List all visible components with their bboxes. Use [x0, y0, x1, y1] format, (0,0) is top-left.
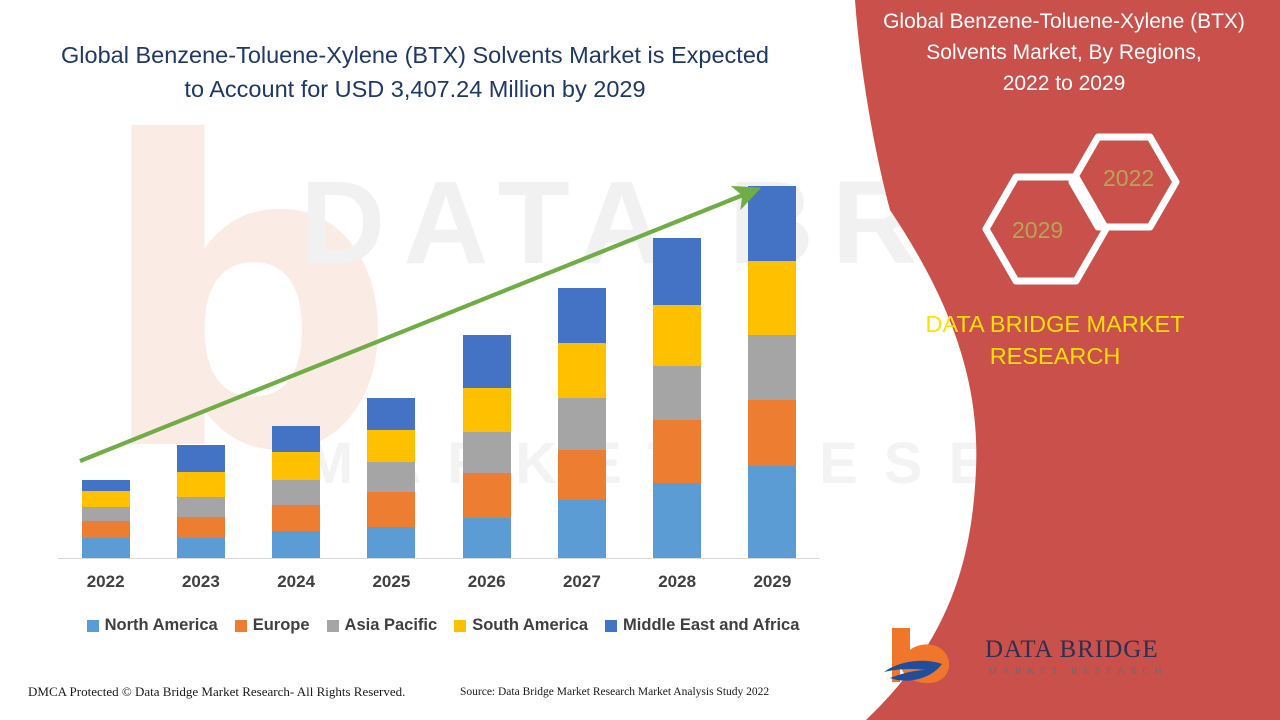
segment-south-america	[653, 305, 701, 366]
segment-middle-east-and-africa	[82, 480, 130, 491]
segment-asia-pacific	[272, 480, 320, 505]
panel-title-line-3: 2022 to 2029	[858, 68, 1270, 99]
brand-name-line-1: DATA BRIDGE MARKET	[850, 308, 1260, 340]
logo-wordmark: DATA BRIDGE	[985, 636, 1159, 664]
brand-name: DATA BRIDGE MARKET RESEARCH	[850, 308, 1260, 372]
segment-north-america	[272, 531, 320, 558]
bar-2026	[463, 335, 511, 558]
bar-2023	[177, 445, 225, 558]
x-axis-label-2022: 2022	[71, 572, 141, 592]
chart-legend: North AmericaEuropeAsia PacificSouth Ame…	[58, 616, 828, 635]
x-axis-label-2027: 2027	[547, 572, 617, 592]
company-logo: DATA BRIDGE MARKET RESEARCH	[880, 620, 1140, 700]
infographic-root: b DATA BRIDGE MARKET RESEARCH Global Ben…	[0, 0, 1280, 720]
legend-label: Europe	[253, 616, 310, 635]
segment-middle-east-and-africa	[748, 186, 796, 261]
legend-swatch-icon	[454, 620, 466, 632]
x-axis-label-2029: 2029	[737, 572, 807, 592]
segment-asia-pacific	[653, 366, 701, 420]
x-axis-labels: 20222023202420252026202720282029	[58, 572, 820, 602]
segment-south-america	[748, 261, 796, 335]
chart-plot-area: 20222023202420252026202720282029	[0, 0, 880, 720]
x-axis-label-2025: 2025	[356, 572, 426, 592]
legend-item-south-america[interactable]: South America	[454, 616, 588, 635]
segment-south-america	[463, 388, 511, 432]
legend-label: North America	[105, 616, 218, 635]
segment-north-america	[82, 538, 130, 558]
segment-europe	[367, 492, 415, 527]
data-bridge-logo-icon	[880, 620, 980, 690]
segment-europe	[653, 420, 701, 483]
legend-swatch-icon	[235, 620, 247, 632]
legend-item-asia-pacific[interactable]: Asia Pacific	[327, 616, 438, 635]
panel-title-line-1: Global Benzene-Toluene-Xylene (BTX)	[858, 6, 1270, 37]
brand-name-line-2: RESEARCH	[850, 340, 1260, 372]
segment-south-america	[272, 452, 320, 480]
segment-europe	[558, 450, 606, 500]
chart-panel: Global Benzene-Toluene-Xylene (BTX) Solv…	[0, 0, 880, 720]
segment-north-america	[463, 518, 511, 558]
segment-north-america	[558, 500, 606, 558]
legend-item-europe[interactable]: Europe	[235, 616, 310, 635]
segment-asia-pacific	[82, 507, 130, 521]
segment-north-america	[367, 527, 415, 558]
bar-2024	[272, 426, 320, 558]
branding-panel-content: Global Benzene-Toluene-Xylene (BTX) Solv…	[830, 0, 1280, 720]
segment-south-america	[177, 472, 225, 497]
legend-item-north-america[interactable]: North America	[87, 616, 218, 635]
segment-north-america	[748, 466, 796, 558]
panel-title: Global Benzene-Toluene-Xylene (BTX) Solv…	[858, 6, 1270, 99]
segment-middle-east-and-africa	[177, 445, 225, 472]
bar-2025	[367, 398, 415, 558]
segment-middle-east-and-africa	[653, 238, 701, 305]
bar-2027	[558, 288, 606, 558]
bar-2022	[82, 480, 130, 558]
hexagon-outlines-icon	[980, 125, 1210, 295]
segment-middle-east-and-africa	[367, 398, 415, 430]
logo-subtitle: MARKET RESEARCH	[988, 666, 1167, 677]
panel-title-line-2: Solvents Market, By Regions,	[858, 37, 1270, 68]
x-axis-line	[58, 558, 820, 559]
segment-south-america	[82, 491, 130, 507]
segment-middle-east-and-africa	[272, 426, 320, 452]
source-text: Source: Data Bridge Market Research Mark…	[460, 686, 769, 698]
x-axis-label-2028: 2028	[642, 572, 712, 592]
segment-north-america	[177, 538, 225, 558]
bar-2028	[653, 238, 701, 558]
copyright-text: DMCA Protected © Data Bridge Market Rese…	[28, 684, 405, 700]
segment-middle-east-and-africa	[463, 335, 511, 388]
segment-south-america	[558, 343, 606, 398]
segment-middle-east-and-africa	[558, 288, 606, 343]
x-axis-label-2024: 2024	[261, 572, 331, 592]
legend-swatch-icon	[605, 620, 617, 632]
segment-europe	[82, 521, 130, 538]
legend-label: Middle East and Africa	[623, 616, 799, 635]
x-axis-label-2026: 2026	[452, 572, 522, 592]
legend-item-middle-east-and-africa[interactable]: Middle East and Africa	[605, 616, 799, 635]
segment-europe	[748, 400, 796, 466]
segment-asia-pacific	[177, 497, 225, 517]
segment-asia-pacific	[558, 398, 606, 450]
segment-asia-pacific	[463, 432, 511, 473]
segment-europe	[272, 505, 320, 531]
segment-europe	[177, 517, 225, 538]
legend-swatch-icon	[327, 620, 339, 632]
bar-2029	[748, 186, 796, 558]
x-axis-label-2023: 2023	[166, 572, 236, 592]
branding-panel: Global Benzene-Toluene-Xylene (BTX) Solv…	[830, 0, 1280, 720]
segment-europe	[463, 473, 511, 518]
segment-north-america	[653, 483, 701, 558]
segment-asia-pacific	[367, 462, 415, 492]
legend-label: Asia Pacific	[345, 616, 438, 635]
hexagon-2029-label: 2029	[1012, 217, 1063, 244]
legend-label: South America	[472, 616, 588, 635]
segment-south-america	[367, 430, 415, 462]
year-hexagons: 2022 2029	[980, 125, 1210, 295]
segment-asia-pacific	[748, 335, 796, 400]
hexagon-2022-label: 2022	[1103, 165, 1154, 192]
legend-swatch-icon	[87, 620, 99, 632]
